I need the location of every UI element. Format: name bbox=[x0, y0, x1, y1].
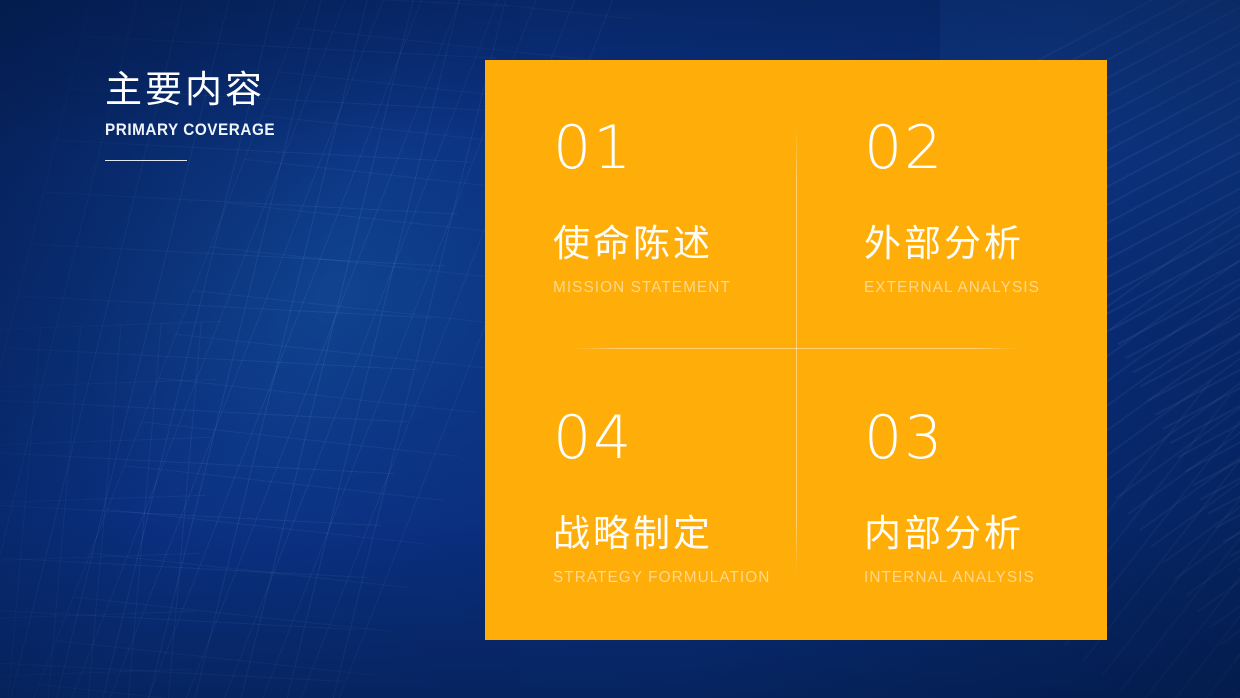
agenda-item-03[interactable]: 03 内部分析 INTERNAL ANALYSIS bbox=[796, 350, 1107, 640]
agenda-number: 01 bbox=[553, 118, 796, 178]
agenda-title-en: EXTERNAL ANALYSIS bbox=[864, 278, 1097, 297]
agenda-item-01[interactable]: 01 使命陈述 MISSION STATEMENT bbox=[485, 60, 796, 350]
page-subtitle: PRIMARY COVERAGE bbox=[105, 120, 402, 140]
agenda-title-en: STRATEGY FORMULATION bbox=[553, 568, 786, 587]
agenda-title-cn: 内部分析 bbox=[864, 512, 1107, 556]
agenda-title-cn: 使命陈述 bbox=[553, 222, 796, 266]
agenda-title-cn: 战略制定 bbox=[553, 512, 796, 556]
agenda-item-04[interactable]: 04 战略制定 STRATEGY FORMULATION bbox=[485, 350, 796, 640]
agenda-grid: 01 使命陈述 MISSION STATEMENT 02 外部分析 EXTERN… bbox=[485, 60, 1107, 640]
agenda-number: 02 bbox=[864, 118, 1107, 178]
agenda-title-cn: 外部分析 bbox=[864, 222, 1107, 266]
agenda-panel: 01 使命陈述 MISSION STATEMENT 02 外部分析 EXTERN… bbox=[485, 60, 1107, 640]
title-underline bbox=[105, 160, 187, 161]
agenda-number: 03 bbox=[864, 408, 1107, 468]
agenda-title-en: INTERNAL ANALYSIS bbox=[864, 568, 1097, 587]
agenda-item-02[interactable]: 02 外部分析 EXTERNAL ANALYSIS bbox=[796, 60, 1107, 350]
agenda-number: 04 bbox=[553, 408, 796, 468]
presentation-slide: 主要内容 PRIMARY COVERAGE 01 使命陈述 MISSION ST… bbox=[0, 0, 1240, 698]
slide-title-block: 主要内容 PRIMARY COVERAGE bbox=[105, 68, 435, 161]
agenda-title-en: MISSION STATEMENT bbox=[553, 278, 786, 297]
page-title: 主要内容 bbox=[105, 68, 435, 112]
